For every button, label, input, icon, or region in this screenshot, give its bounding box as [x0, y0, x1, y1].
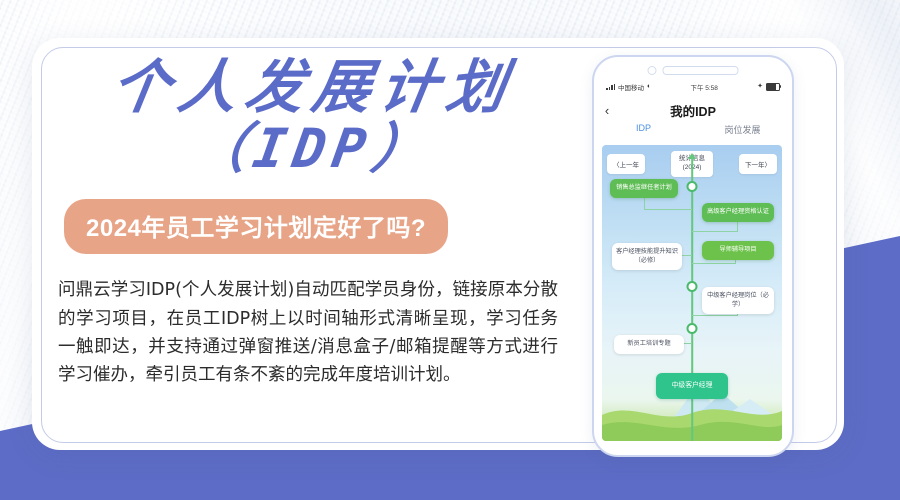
timeline-dot — [687, 323, 698, 334]
description-paragraph: 问鼎云学习IDP(个人发展计划)自动匹配学员身份，链接原本分散的学习项目，在员工… — [58, 276, 558, 389]
next-year-button[interactable]: 下一年〉 — [739, 154, 777, 174]
phone-earpiece — [648, 66, 739, 75]
timeline-dot — [687, 281, 698, 292]
timeline-trunk — [691, 159, 693, 441]
timeline-node-card[interactable]: 导师辅导项目 — [702, 241, 774, 260]
app-page-title: 我的IDP — [594, 101, 792, 120]
app-tabbar: IDP 岗位发展 — [594, 123, 792, 145]
tab-career-development[interactable]: 岗位发展 — [693, 123, 792, 145]
idp-tree-screen: 〈上一年 统计信息 (2024) 下一年〉 销售总监继任者计划 高级客户经理资格… — [602, 145, 782, 441]
timeline-branch — [644, 209, 692, 210]
status-bar: 中国移动 ◐ 下午 5:58 ✦ — [594, 79, 792, 94]
timeline-node-card[interactable]: 新员工培训专题 — [614, 335, 684, 354]
phone-mockup: 中国移动 ◐ 下午 5:58 ✦ ‹ 我的IDP IDP 岗位发展 — [592, 55, 794, 457]
wifi-icon: ◐ — [647, 83, 651, 90]
timeline-branch — [692, 315, 738, 316]
speaker-grill-icon — [663, 66, 739, 75]
left-text-column: 个人发展计划 （IDP） 2024年员工学习计划定好了吗? 问鼎云学习IDP(个… — [58, 58, 568, 390]
timeline-branch — [644, 197, 645, 210]
timeline-node-card[interactable]: 中级客户经理 — [656, 373, 728, 399]
timeline-node-card[interactable]: 销售总监继任者计划 — [610, 179, 678, 198]
prev-year-button[interactable]: 〈上一年 — [607, 154, 645, 174]
signal-bars-icon — [606, 84, 615, 90]
tagline-badge: 2024年员工学习计划定好了吗? — [64, 199, 448, 254]
battery-icon — [766, 83, 780, 91]
app-navbar: ‹ 我的IDP — [594, 97, 792, 123]
carrier-label: 中国移动 — [618, 82, 644, 92]
page-title-line2: （IDP） — [54, 121, 573, 177]
timeline-dot — [687, 181, 698, 192]
bluetooth-icon: ✦ — [757, 83, 763, 90]
tab-idp[interactable]: IDP — [594, 123, 693, 145]
timeline-branch — [692, 231, 738, 232]
timeline-node-card[interactable]: 客户经理技能提升知识（必修） — [612, 243, 682, 270]
status-time: 下午 5:58 — [690, 82, 717, 92]
front-camera-icon — [648, 66, 657, 75]
timeline-node-card[interactable]: 高级客户经理资格认证 — [702, 203, 774, 222]
page-title-line1: 个人发展计划 — [53, 58, 572, 117]
timeline-node-card[interactable]: 中级客户经理岗位（必学） — [702, 287, 774, 314]
poster-canvas: 个人发展计划 （IDP） 2024年员工学习计划定好了吗? 问鼎云学习IDP(个… — [0, 0, 900, 500]
timeline-branch — [692, 263, 736, 264]
